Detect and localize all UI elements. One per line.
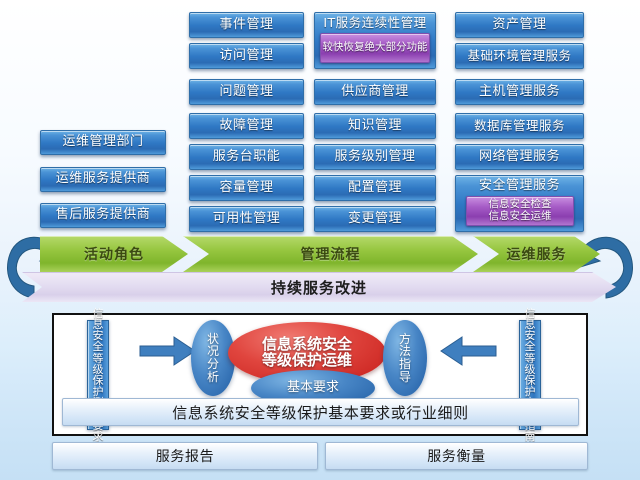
service-box-4[interactable]: 数据库管理服务 [455,113,584,139]
chevron-process[interactable]: 管理流程 [183,236,478,272]
process-left-box-5[interactable]: 服务台职能 [189,144,304,170]
security-service-badge-line2: 信息安全运维 [489,211,552,223]
ellipse-method-guidance[interactable]: 方 法 指 导 [383,320,427,396]
service-box-6-label: 安全管理服务 [479,179,560,193]
security-service-badge[interactable]: 信息安全检查 信息安全运维 [466,196,574,226]
footer-service-measure[interactable]: 服务衡量 [325,442,588,470]
service-box-5[interactable]: 网络管理服务 [455,144,584,170]
chevron-services[interactable]: 运维服务 [473,236,600,272]
process-right-box-2[interactable]: 供应商管理 [314,79,436,105]
process-left-box-2[interactable]: 访问管理 [189,43,304,69]
diagram-canvas: 运维管理部门 运维服务提供商 售后服务提供商 事件管理 访问管理 问题管理 故障… [0,0,640,480]
arrow-right-icon [140,336,196,366]
process-right-box-4[interactable]: 服务级别管理 [314,144,436,170]
process-left-box-7[interactable]: 可用性管理 [189,206,304,232]
footer-service-report[interactable]: 服务报告 [52,442,318,470]
role-box-3[interactable]: 售后服务提供商 [40,203,166,228]
process-left-box-1[interactable]: 事件管理 [189,12,304,38]
process-left-box-6[interactable]: 容量管理 [189,175,304,201]
process-left-box-4[interactable]: 故障管理 [189,113,304,139]
role-box-1[interactable]: 运维管理部门 [40,130,166,155]
service-box-2[interactable]: 基础环境管理服务 [455,43,584,69]
service-box-1[interactable]: 资产管理 [455,12,584,38]
service-box-3[interactable]: 主机管理服务 [455,79,584,105]
process-right-box-3[interactable]: 知识管理 [314,113,436,139]
chevron-roles[interactable]: 活动角色 [40,236,188,272]
process-right-box-1-label: IT服务连续性管理 [323,16,426,30]
process-right-box-5[interactable]: 配置管理 [314,175,436,201]
process-right-box-6[interactable]: 变更管理 [314,206,436,232]
role-box-2[interactable]: 运维服务提供商 [40,167,166,192]
process-left-box-3[interactable]: 问题管理 [189,79,304,105]
it-continuity-badge[interactable]: 较快恢复绝大部分功能 [320,33,430,63]
arrow-left-icon [440,336,496,366]
panel-baseline-bar[interactable]: 信息系统安全等级保护基本要求或行业细则 [62,398,579,426]
continuous-improvement-arrow[interactable]: 持续服务改进 [22,272,616,302]
it-continuity-badge-label: 较快恢复绝大部分功能 [323,42,428,54]
